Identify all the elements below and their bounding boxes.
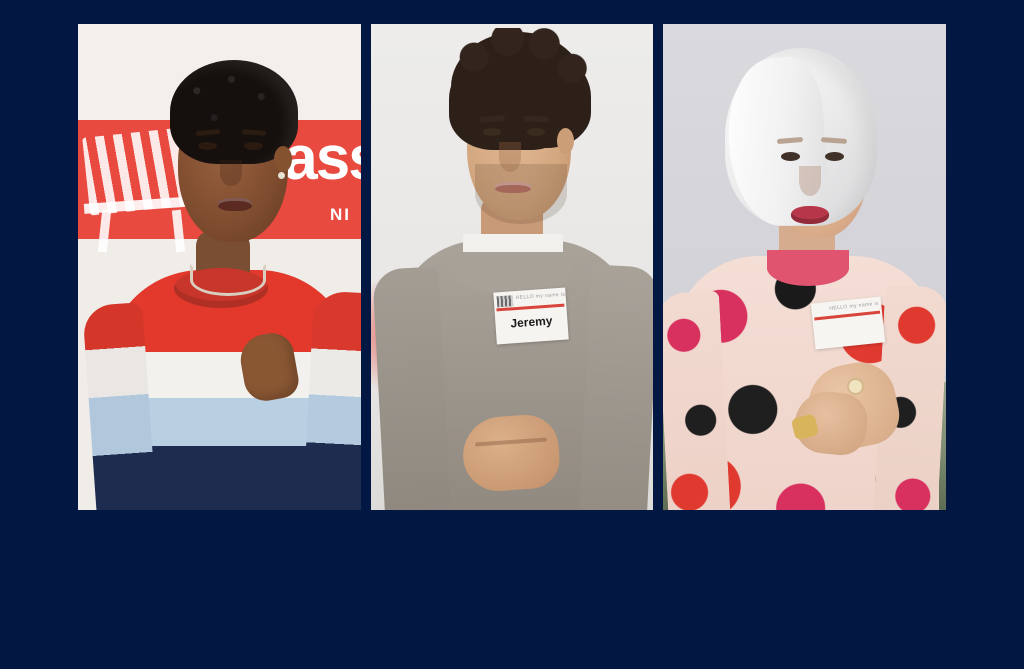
photo-center-nose [499,142,521,172]
photo-left-earring [278,172,285,179]
photo-center-arm-left [372,266,452,510]
photo-center-ear [557,128,574,154]
photo-left-necklace [190,264,266,296]
photo-strip: A lass NI [78,24,946,510]
promo-banner: A lass NI [0,0,1024,669]
photo-center-eye-left [483,128,501,136]
photo-card-center: HELLO my name is Jeremy [371,24,654,510]
photo-left-nose [220,160,242,186]
photo-center-arm-right [578,264,654,510]
photo-left-hair-texture [172,62,296,158]
photo-right-image: HELLO my name is [663,24,946,510]
photo-center-nametag: HELLO my name is Jeremy [493,288,568,345]
photo-left-image: A lass NI [78,24,361,510]
photo-left-eye-left [198,142,217,150]
photo-left-ear [274,146,292,172]
caption-block: Adult Agent & Manager Showcase 10 Scouti… [0,510,1024,669]
photo-card-left: A lass NI [78,24,361,510]
nametag-red-rule-right [815,311,881,321]
photo-right-collar [767,250,849,286]
nametag-clapper-icon [496,295,513,307]
photo-right-nametag: HELLO my name is [811,296,885,349]
backdrop-logo-subtext: NI [330,206,351,223]
photo-center-hair-curls [449,28,589,140]
photo-center-eye-right [527,128,545,136]
photo-left-eye-right [244,142,263,150]
photo-left-mouth [218,198,252,211]
photo-center-image: HELLO my name is Jeremy [371,24,654,510]
photo-card-right: HELLO my name is [663,24,946,510]
nametag-name-text: Jeremy [495,313,568,331]
photo-right-mouth [791,206,829,224]
photo-center-stubble [475,164,567,224]
photo-center-mouth [495,182,531,193]
nametag-hello-text: HELLO my name is [515,291,565,302]
